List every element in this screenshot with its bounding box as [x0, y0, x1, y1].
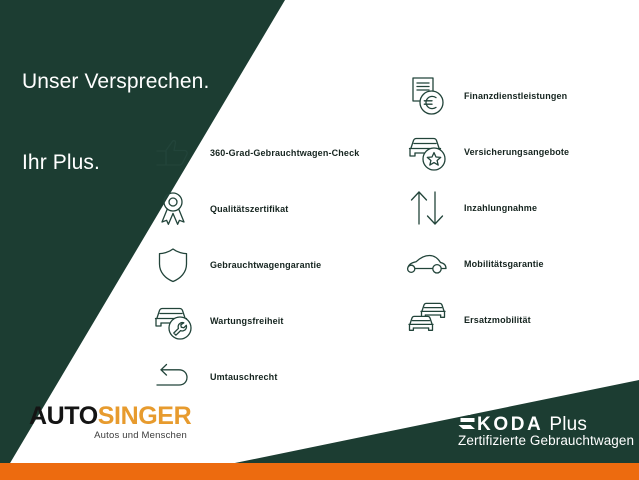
feature-label: Mobilitätsgarantie	[464, 259, 544, 269]
shield-icon	[146, 241, 200, 289]
feature-label: Umtauschrecht	[210, 372, 277, 382]
feature-list-left: 360-Grad-Gebrauchtwagen-Check Qualitätsz…	[146, 126, 359, 406]
feature-label: 360-Grad-Gebrauchtwagen-Check	[210, 148, 359, 158]
feature-item: Inzahlungnahme	[400, 181, 569, 235]
feature-item: 360-Grad-Gebrauchtwagen-Check	[146, 126, 359, 180]
skoda-plus-text: Plus	[549, 415, 587, 434]
dealer-logo-wordmark: AUTOSINGER	[29, 403, 189, 429]
feature-item: Wartungsfreiheit	[146, 294, 359, 348]
skoda-brand-text: KODA	[477, 415, 543, 434]
car-wrench-icon	[146, 297, 200, 345]
skoda-subtitle: Zertifizierte Gebrauchtwagen	[458, 433, 634, 449]
sedan-side-icon	[400, 240, 454, 288]
skoda-logo-line: KODA Plus	[458, 411, 634, 432]
orange-footer-bar	[0, 463, 639, 480]
skoda-s-arrow-icon	[458, 411, 475, 430]
skoda-plus-logo: KODA Plus Zertifizierte Gebrauchtwagen	[458, 411, 634, 449]
feature-item: Qualitätszertifikat	[146, 182, 359, 236]
up-down-arrows-icon	[400, 184, 454, 232]
feature-item: Finanzdienstleistungen	[400, 69, 569, 123]
feature-list-right: Finanzdienstleistungen Versicherungsange…	[400, 69, 569, 349]
feature-label: Finanzdienstleistungen	[464, 91, 567, 101]
document-euro-icon	[400, 72, 454, 120]
dealer-logo: AUTOSINGER Autos und Menschen	[29, 403, 189, 441]
feature-label: Gebrauchtwagengarantie	[210, 260, 321, 270]
feature-item: Ersatzmobilität	[400, 293, 569, 347]
car-star-icon	[400, 128, 454, 176]
thumbs-up-icon	[146, 129, 200, 177]
feature-item: Versicherungsangebote	[400, 125, 569, 179]
headline-line-1: Unser Versprechen.	[22, 68, 209, 95]
feature-label: Versicherungsangebote	[464, 147, 569, 157]
feature-item: Gebrauchtwagengarantie	[146, 238, 359, 292]
feature-label: Inzahlungnahme	[464, 203, 537, 213]
feature-item: Mobilitätsgarantie	[400, 237, 569, 291]
feature-label: Qualitätszertifikat	[210, 204, 288, 214]
two-cars-icon	[400, 296, 454, 344]
u-turn-arrow-icon	[146, 353, 200, 401]
dealer-logo-word-singer: SINGER	[98, 402, 191, 430]
dealer-logo-tagline: Autos und Menschen	[29, 430, 189, 441]
dealer-logo-word-auto: AUTO	[29, 402, 98, 430]
feature-label: Wartungsfreiheit	[210, 316, 284, 326]
medal-rosette-icon	[146, 185, 200, 233]
promo-banner: Unser Versprechen. Ihr Plus. 360-Grad-Ge…	[0, 0, 639, 480]
feature-item: Umtauschrecht	[146, 350, 359, 404]
feature-label: Ersatzmobilität	[464, 315, 531, 325]
